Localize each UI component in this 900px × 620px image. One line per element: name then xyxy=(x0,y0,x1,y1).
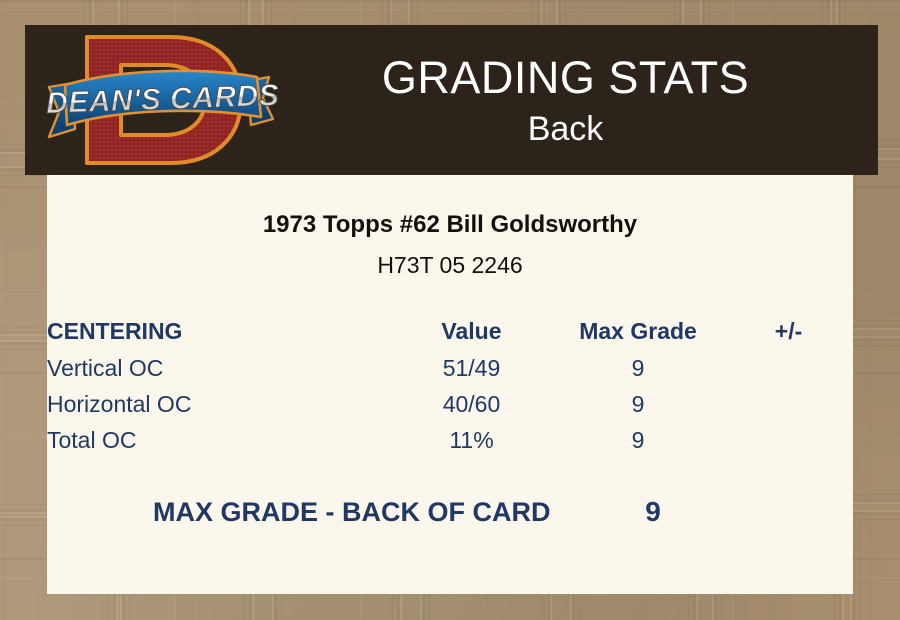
row-max-grade: 9 xyxy=(552,422,724,458)
column-header-value: Value xyxy=(391,312,552,350)
deans-cards-logo[interactable]: DEAN'S CARDS xyxy=(25,25,293,175)
table-row: Vertical OC 51/49 9 xyxy=(47,350,853,386)
max-grade-summary: MAX GRADE - BACK OF CARD 9 xyxy=(47,496,853,528)
page-subtitle: Back xyxy=(293,112,838,146)
column-header-plus-minus: +/- xyxy=(724,312,853,350)
row-label: Total OC xyxy=(47,422,391,458)
table-row: Total OC 11% 9 xyxy=(47,422,853,458)
table-header: CENTERING Value Max Grade +/- xyxy=(47,312,853,350)
card-title: 1973 Topps #62 Bill Goldsworthy xyxy=(47,211,853,239)
column-header-max-grade: Max Grade xyxy=(552,312,724,350)
row-plus-minus xyxy=(724,386,853,422)
table-body: Vertical OC 51/49 9 Horizontal OC 40/60 … xyxy=(47,350,853,458)
backdrop-card xyxy=(850,510,900,620)
card-serial: H73T 05 2246 xyxy=(47,252,853,279)
row-max-grade: 9 xyxy=(552,350,724,386)
header-band: DEAN'S CARDS GRADING STATS Back xyxy=(25,25,878,175)
row-value: 51/49 xyxy=(391,350,552,386)
grading-stats-page: DEAN'S CARDS GRADING STATS Back 1973 Top… xyxy=(0,0,900,620)
content-panel: 1973 Topps #62 Bill Goldsworthy H73T 05 … xyxy=(47,175,853,594)
max-grade-value: 9 xyxy=(573,496,733,528)
row-plus-minus xyxy=(724,350,853,386)
max-grade-label: MAX GRADE - BACK OF CARD xyxy=(47,497,551,528)
row-max-grade: 9 xyxy=(552,386,724,422)
row-plus-minus xyxy=(724,422,853,458)
grading-stats-table: CENTERING Value Max Grade +/- Vertical O… xyxy=(47,312,853,458)
row-label: Horizontal OC xyxy=(47,386,391,422)
table-row: Horizontal OC 40/60 9 xyxy=(47,386,853,422)
row-label: Vertical OC xyxy=(47,350,391,386)
page-title: GRADING STATS xyxy=(293,55,838,100)
table-header-row: CENTERING Value Max Grade +/- xyxy=(47,312,853,350)
row-value: 40/60 xyxy=(391,386,552,422)
header-title-group: GRADING STATS Back xyxy=(293,55,878,146)
backdrop-card xyxy=(846,158,900,330)
row-value: 11% xyxy=(391,422,552,458)
column-header-centering: CENTERING xyxy=(47,312,391,350)
